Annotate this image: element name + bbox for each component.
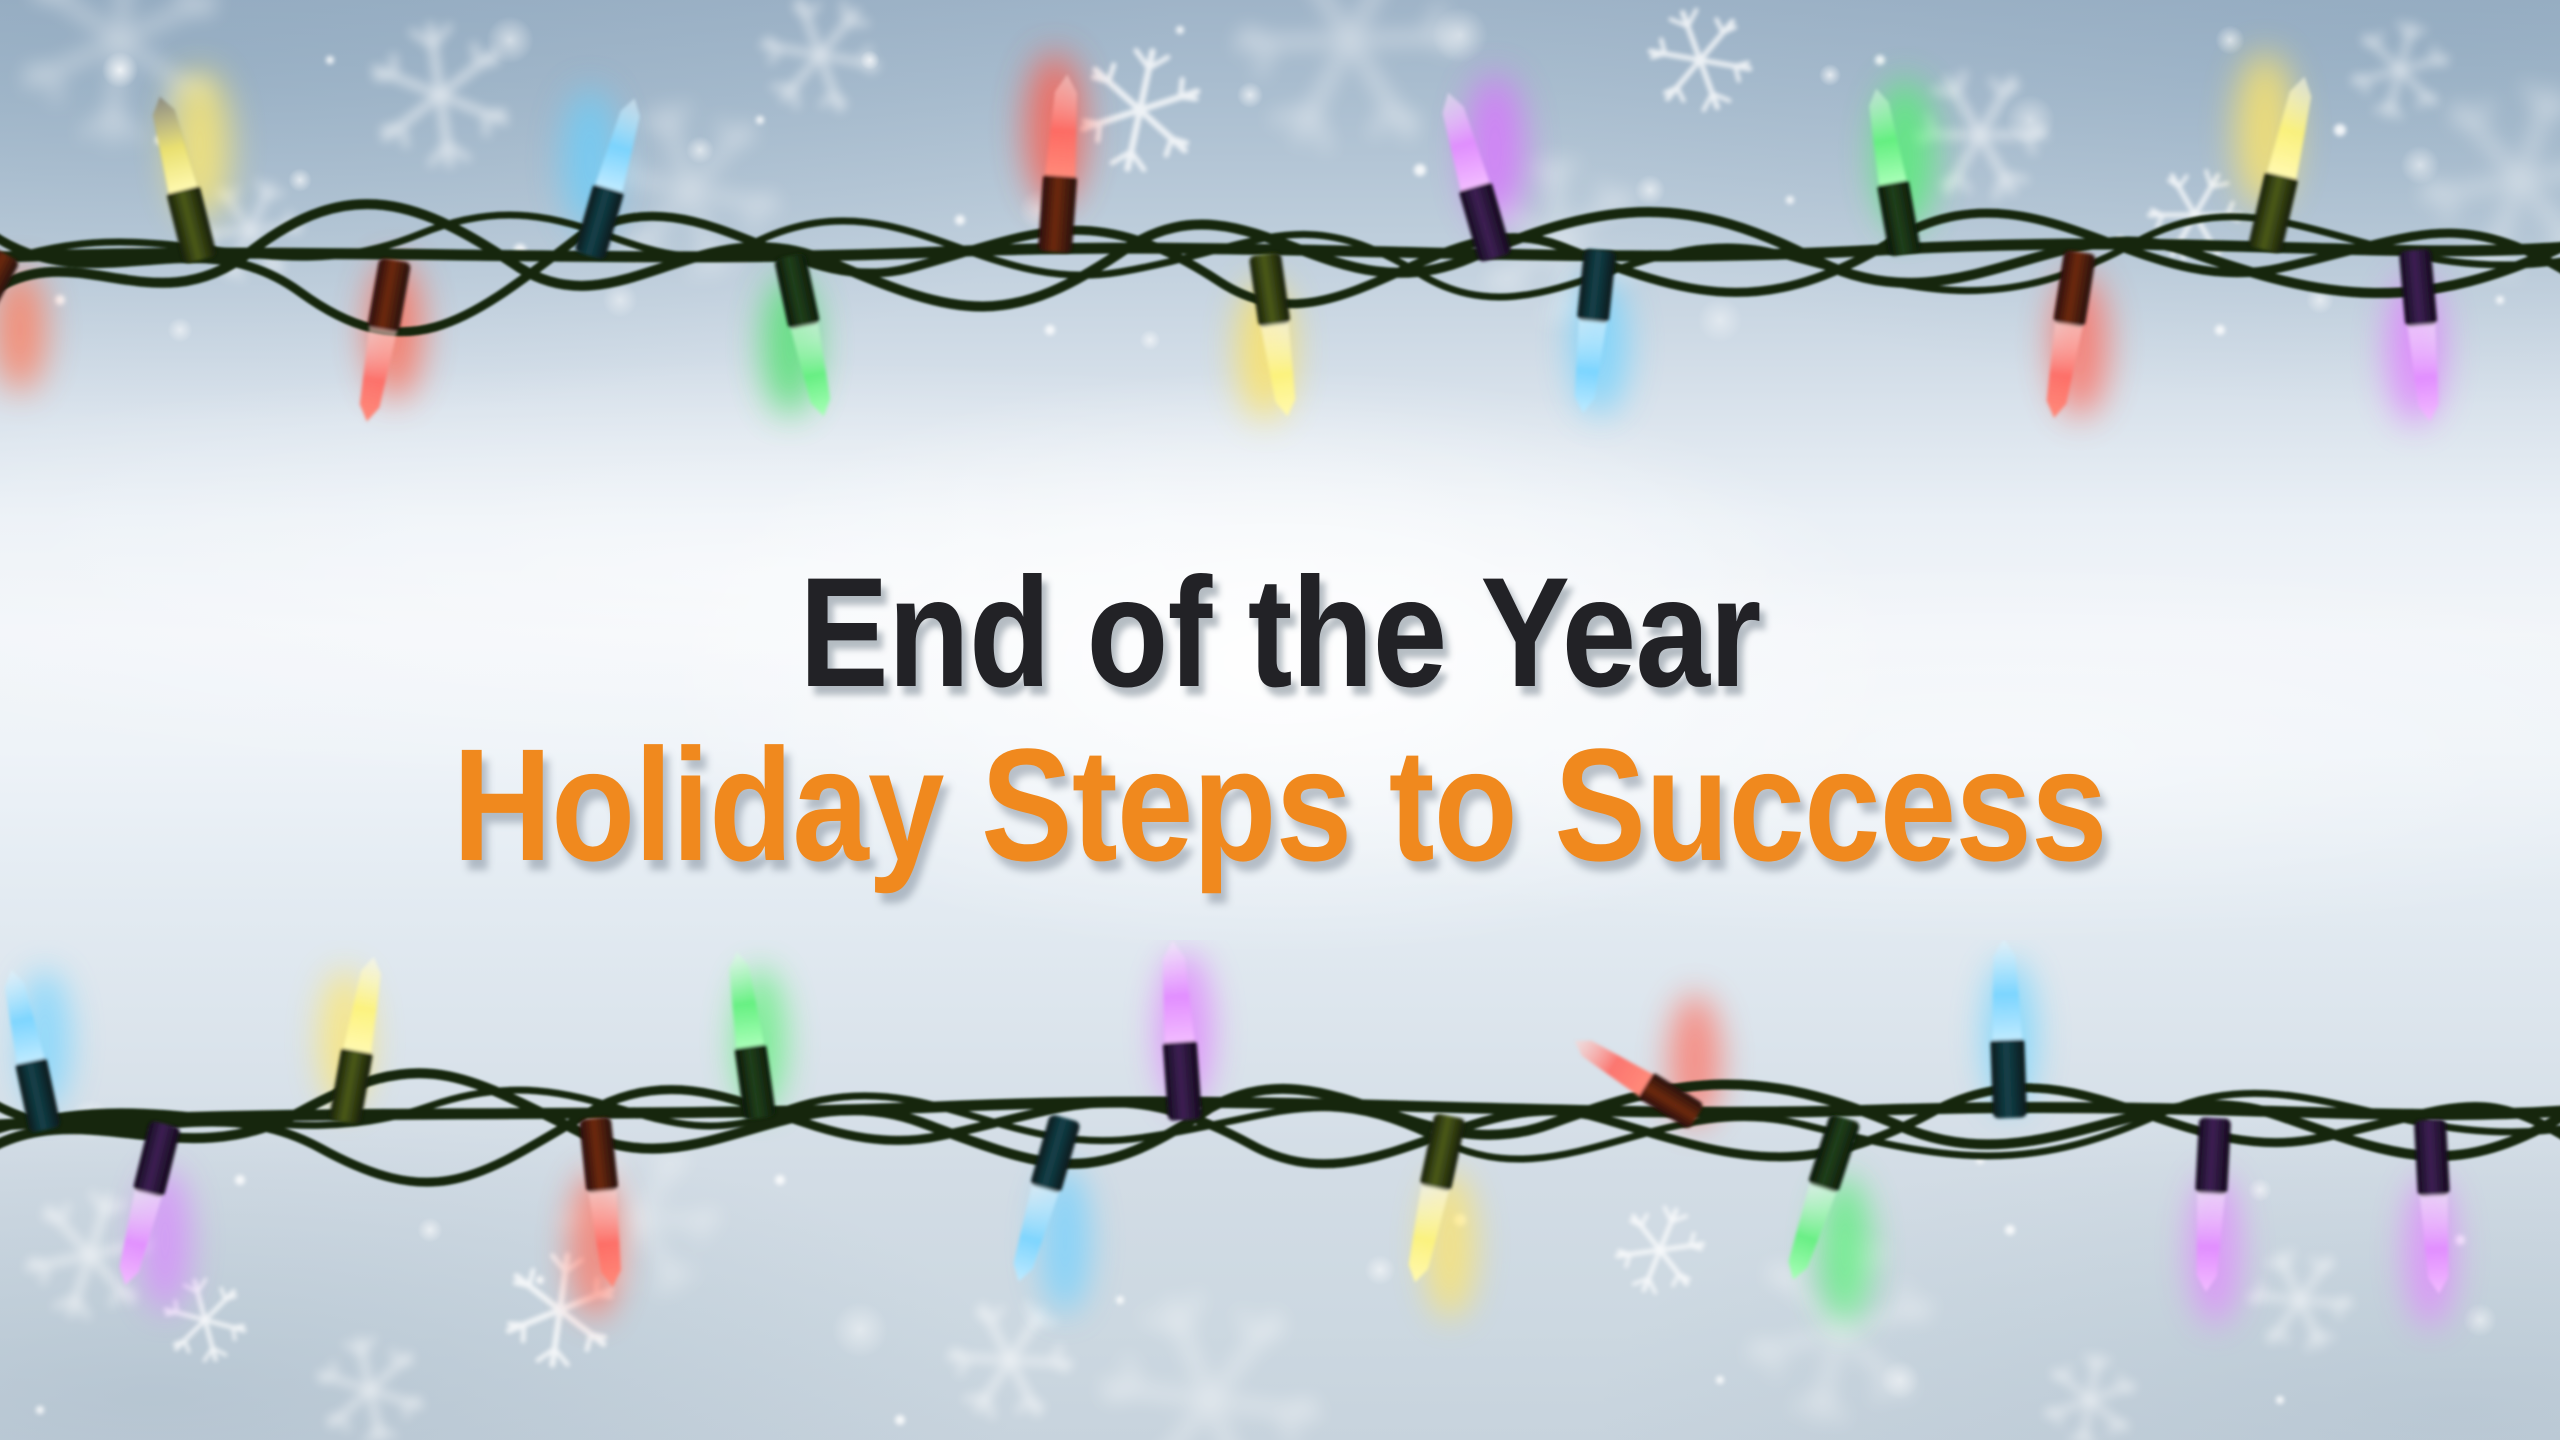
banner-stage: End of the Year Holiday Steps to Success — [0, 0, 2560, 1440]
headline-line-1: End of the Year — [799, 555, 1760, 711]
headline-line-2: Holiday Steps to Success — [453, 725, 2107, 885]
headline-block: End of the Year Holiday Steps to Success — [0, 0, 2560, 1440]
